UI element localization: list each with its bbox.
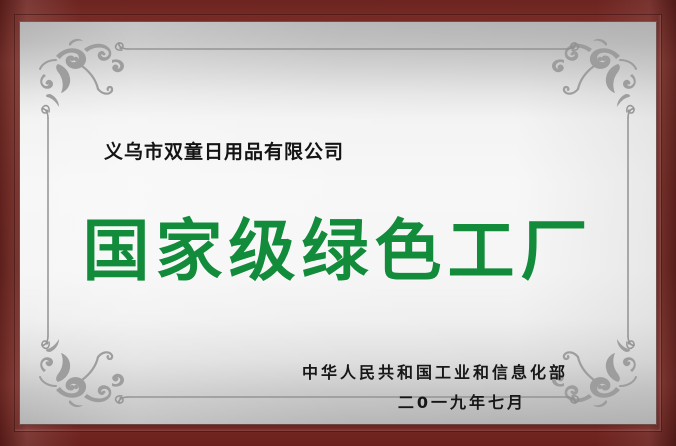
certificate-content: 义乌市双童日用品有限公司 国家级绿色工厂 中华人民共和国工业和信息化部 二0一九… <box>20 22 656 424</box>
issue-date: 二0一九年七月 <box>398 389 526 413</box>
award-plaque: 义乌市双童日用品有限公司 国家级绿色工厂 中华人民共和国工业和信息化部 二0一九… <box>0 0 676 446</box>
company-name: 义乌市双童日用品有限公司 <box>104 137 344 164</box>
award-title: 国家级绿色工厂 <box>20 218 656 285</box>
certificate-panel: 义乌市双童日用品有限公司 国家级绿色工厂 中华人民共和国工业和信息化部 二0一九… <box>20 22 656 424</box>
issuing-authority: 中华人民共和国工业和信息化部 <box>302 359 568 383</box>
